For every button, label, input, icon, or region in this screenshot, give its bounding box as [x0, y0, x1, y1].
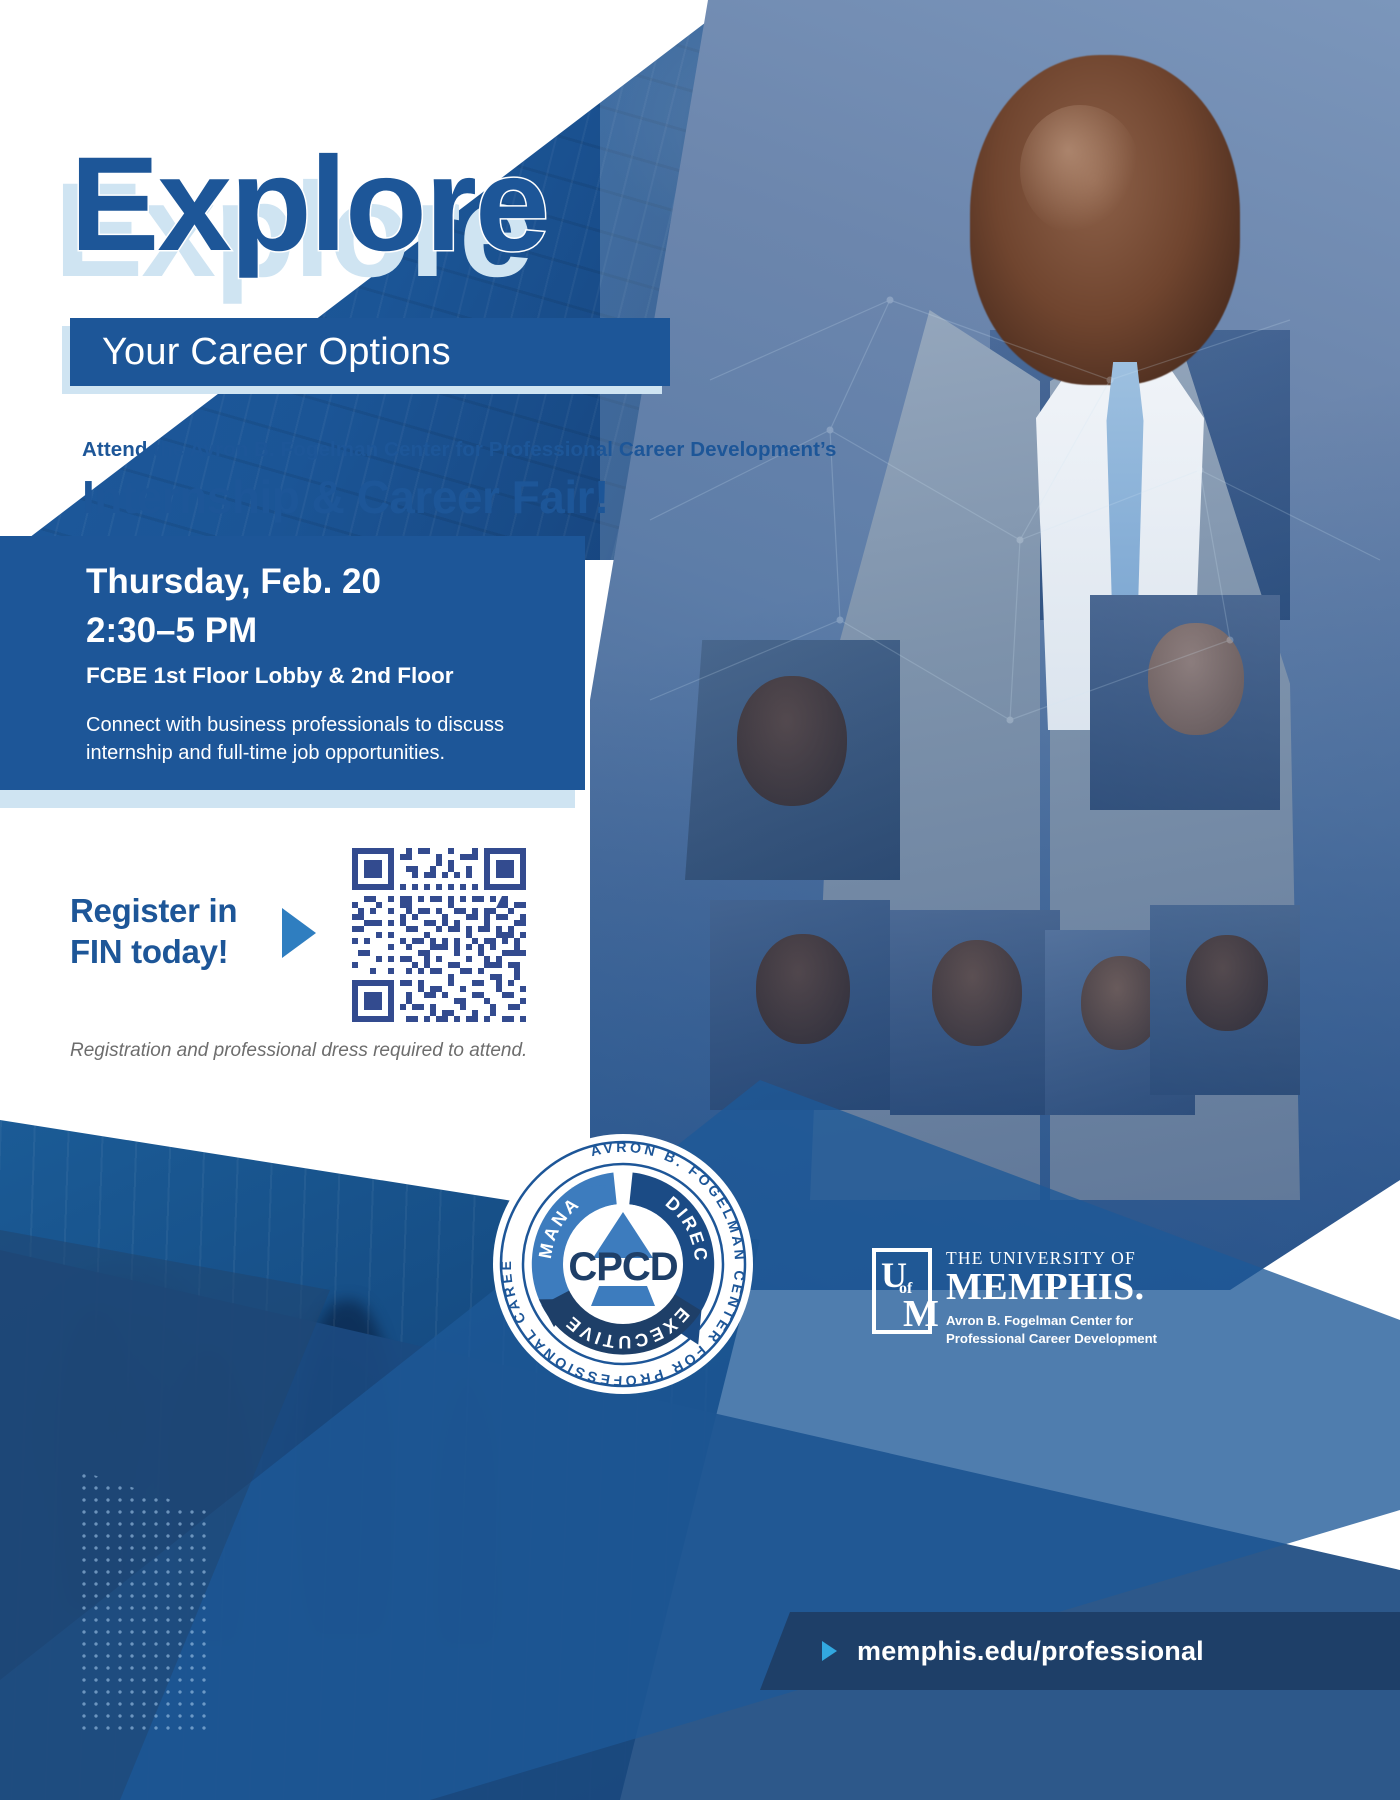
uofm-mark-m: M	[903, 1292, 939, 1336]
headline-subtitle: Your Career Options	[70, 331, 451, 374]
university-subline2: Professional Career Development	[946, 1330, 1157, 1347]
subtitle-bar: Your Career Options	[70, 318, 670, 386]
register-cta: Register in FIN today!	[70, 890, 237, 973]
uofm-monogram-icon: U of M	[872, 1248, 932, 1334]
event-location: FCBE 1st Floor Lobby & 2nd Floor	[86, 663, 454, 689]
university-line2: MEMPHIS.	[946, 1268, 1157, 1308]
poster-canvas: Explore Explore Your Career Options Atte…	[0, 0, 1400, 1800]
event-date: Thursday, Feb. 20	[86, 562, 381, 602]
university-subline1: Avron B. Fogelman Center for	[946, 1312, 1157, 1329]
register-cta-line2: FIN today!	[70, 931, 237, 972]
cpcd-seal-logo: AVRON B. FOGELMAN CENTER FOR PROFESSIONA…	[487, 1128, 759, 1400]
register-cta-line1: Register in	[70, 890, 237, 931]
event-description: Connect with business professionals to d…	[86, 712, 546, 767]
qr-code-icon[interactable]	[352, 848, 526, 1022]
triangle-right-icon	[822, 1641, 837, 1661]
fair-title: Internship & Career Fair!	[82, 470, 609, 524]
triangle-right-icon	[282, 908, 316, 958]
headline-text: Explore	[70, 130, 548, 279]
network-lines-overlay	[590, 0, 1400, 1290]
event-details-accent-strip	[0, 790, 575, 808]
page-title: Explore Explore	[70, 138, 548, 272]
headline-block: Explore Explore	[70, 138, 548, 272]
website-url-bar[interactable]: memphis.edu/professional	[760, 1612, 1400, 1690]
attend-line: Attend the Avron B. Fogelman Center for …	[82, 438, 837, 462]
website-url: memphis.edu/professional	[857, 1636, 1204, 1667]
university-logo: U of M THE UNIVERSITY OF MEMPHIS. Avron …	[872, 1248, 1157, 1347]
university-line1: THE UNIVERSITY OF	[946, 1250, 1157, 1268]
seal-center-text: CPCD	[568, 1245, 677, 1289]
event-time: 2:30–5 PM	[86, 611, 257, 651]
registration-disclaimer: Registration and professional dress requ…	[70, 1040, 527, 1062]
dot-pattern-bottom-left	[78, 1470, 208, 1730]
photo-collage	[590, 0, 1400, 1290]
